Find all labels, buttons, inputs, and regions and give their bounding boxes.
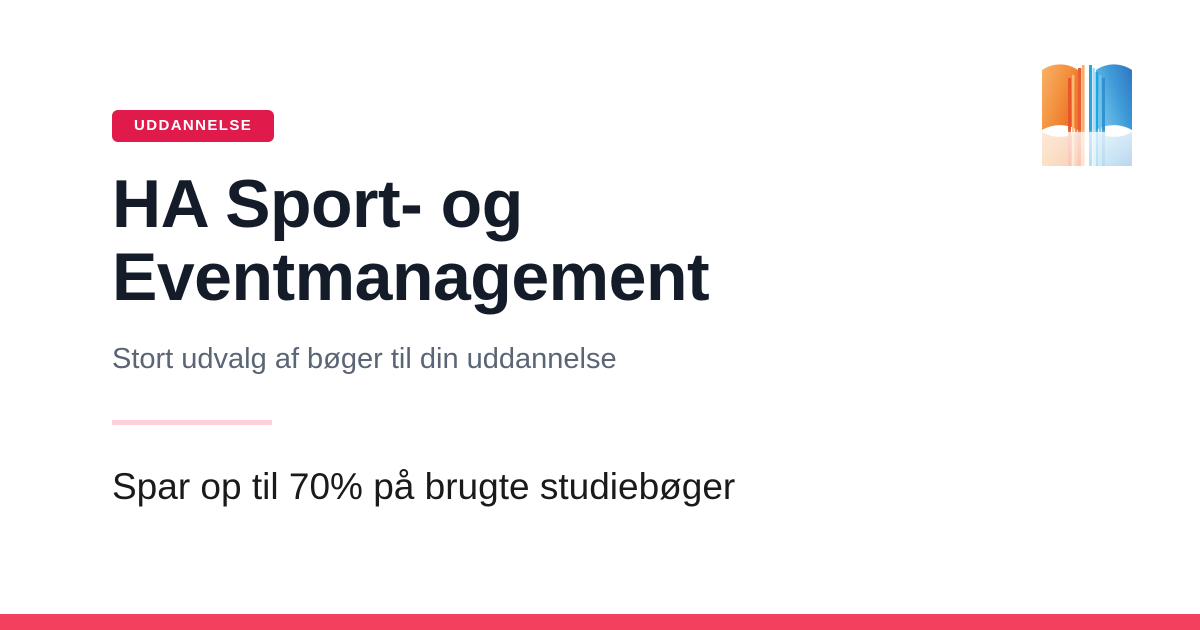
content-column: UDDANNELSE HA Sport- og Eventmanagement … (112, 110, 1032, 510)
footer-accent-bar (0, 614, 1200, 630)
divider (112, 420, 272, 425)
subtitle: Stort udvalg af bøger til din uddannelse (112, 342, 1032, 377)
logo-main-mark (1042, 64, 1132, 132)
category-badge: UDDANNELSE (112, 110, 274, 142)
brand-logo[interactable] (1032, 48, 1142, 168)
logo-reflection (1032, 130, 1142, 168)
tagline: Spar op til 70% på brugte studiebøger (112, 465, 1032, 509)
og-card: UDDANNELSE HA Sport- og Eventmanagement … (0, 0, 1200, 630)
page-title: HA Sport- og Eventmanagement (112, 168, 912, 314)
book-logo-icon (1032, 48, 1142, 168)
